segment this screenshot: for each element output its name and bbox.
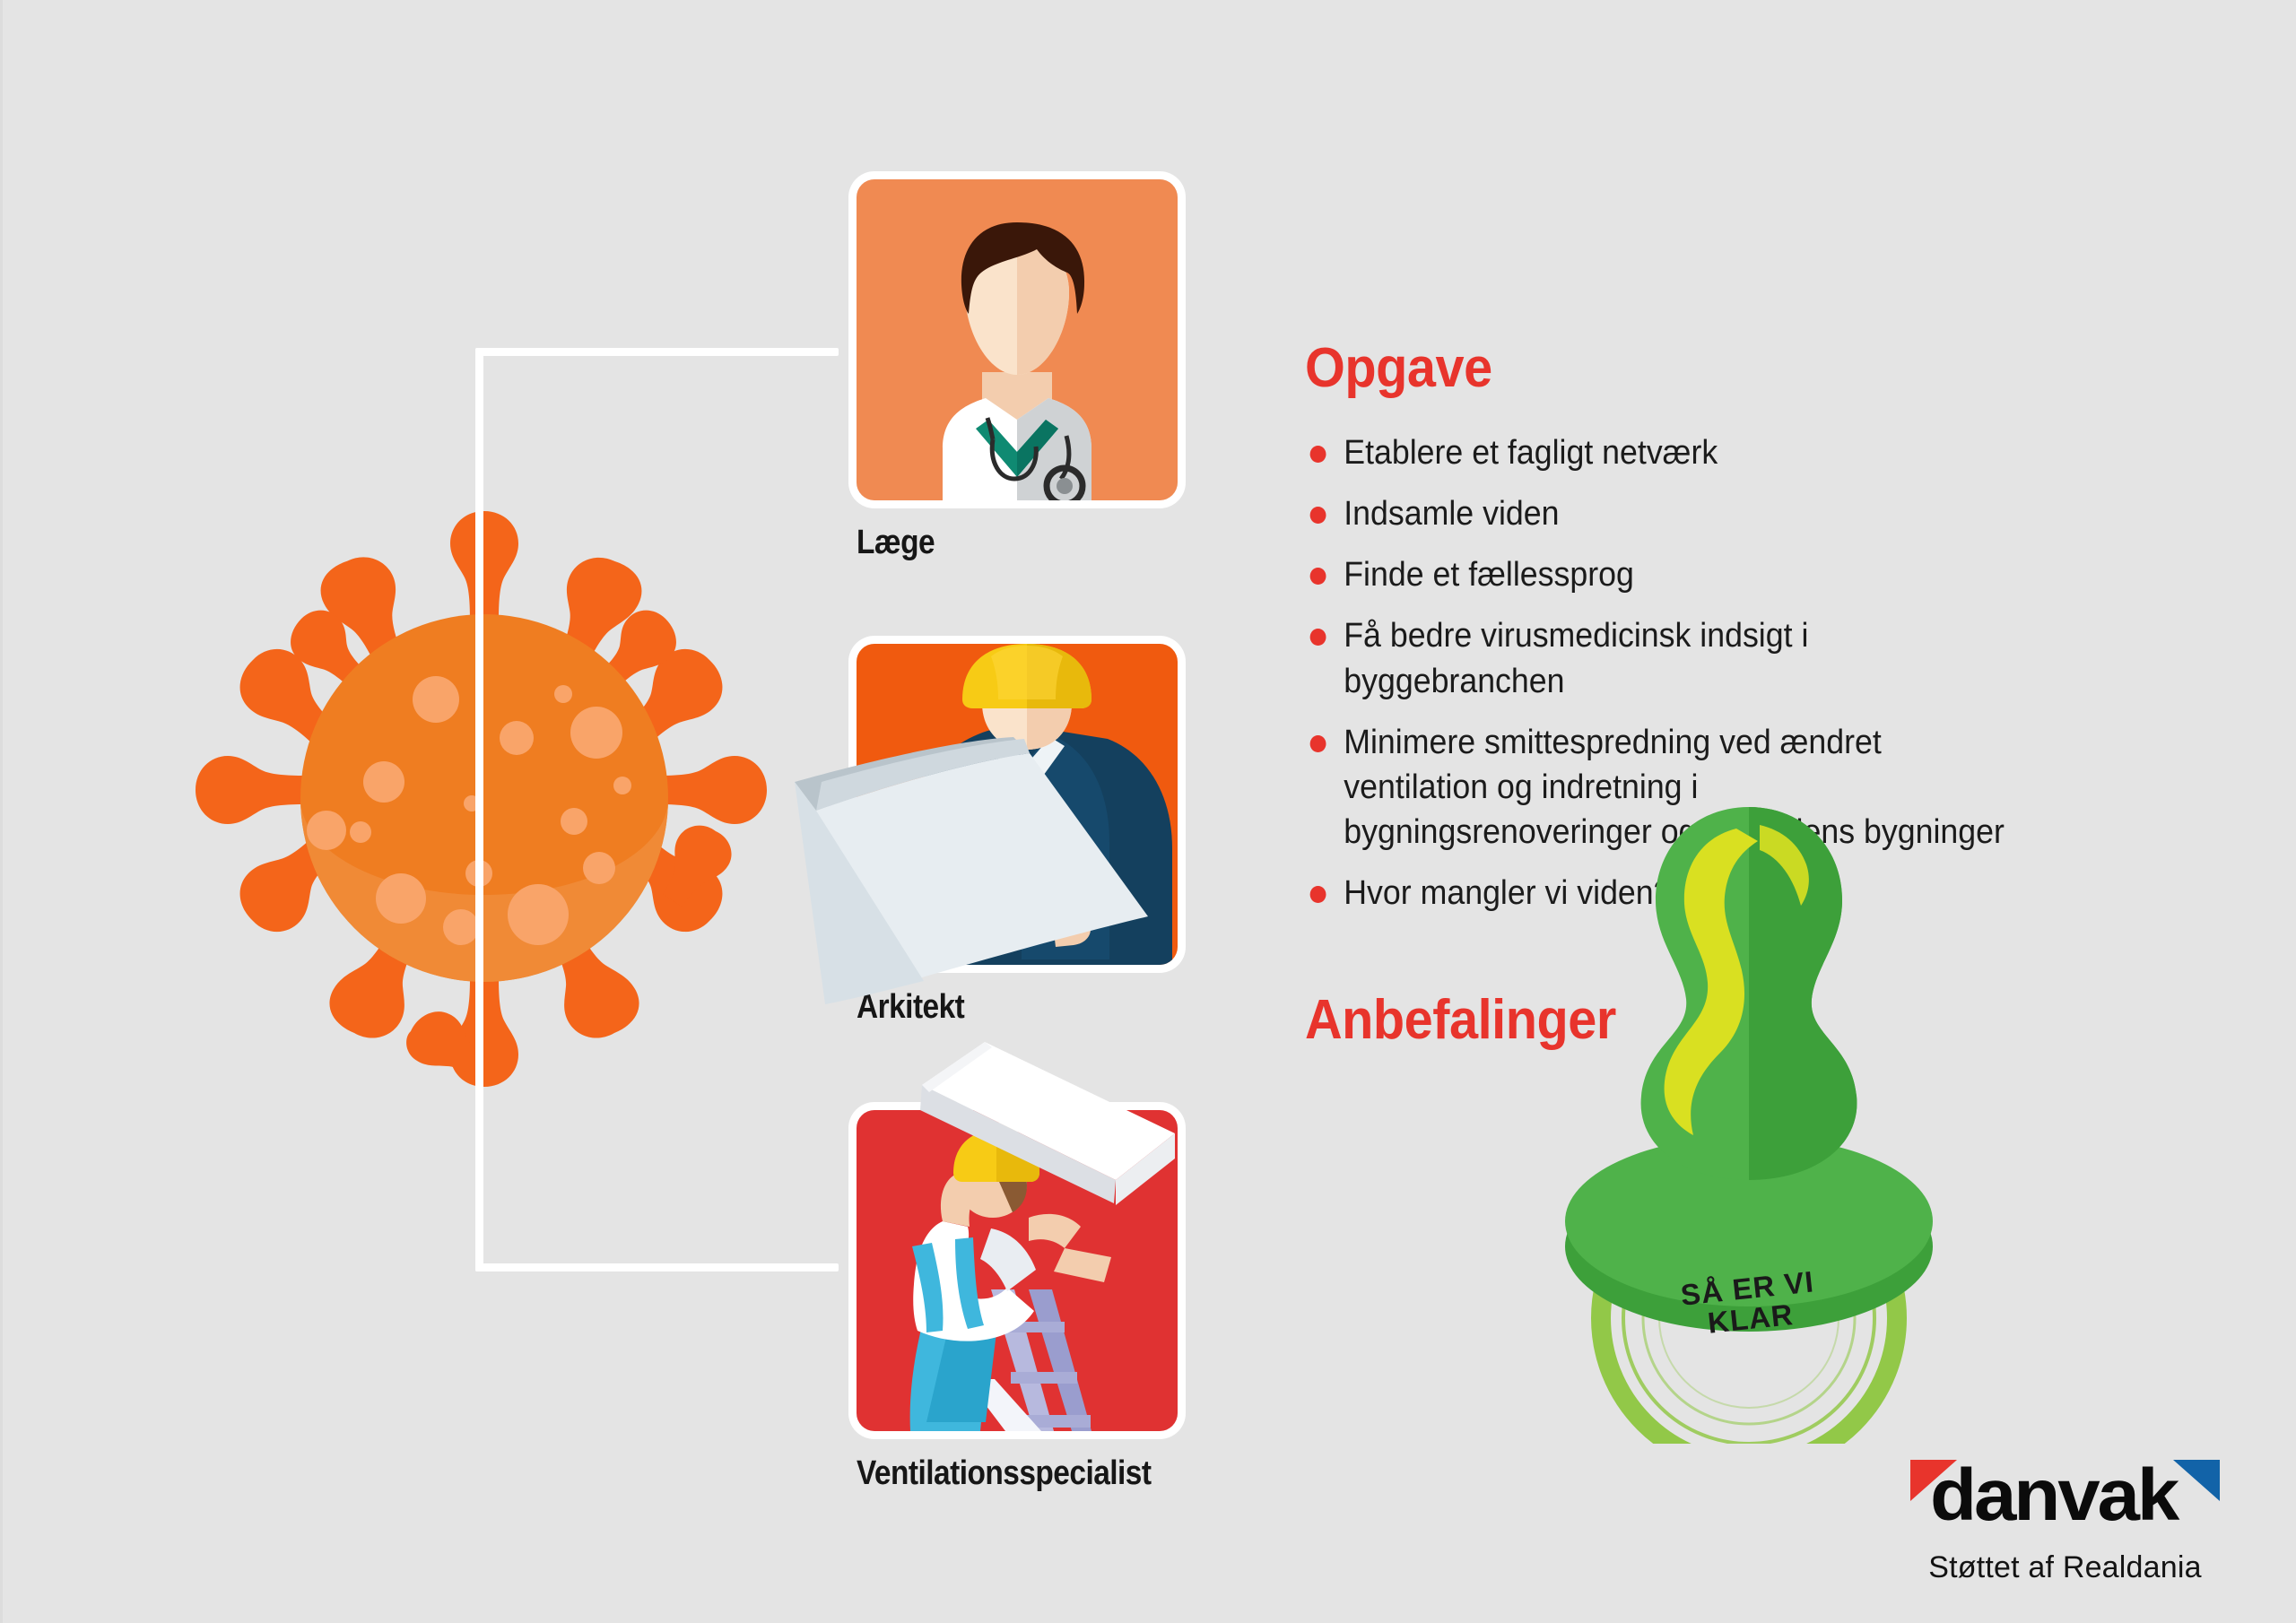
persona-card-architect[interactable]: Arkitekt	[857, 644, 1178, 1027]
infographic-canvas: Læge	[0, 0, 2296, 1623]
danvak-logo: danvak Støttet af Realdania	[1910, 1457, 2220, 1585]
architect-illustration	[857, 644, 1178, 965]
section-heading-tasks: Opgave	[1305, 341, 2005, 396]
persona-card-label: Ventilationsspecialist	[857, 1454, 1139, 1493]
connector-arm-top	[475, 348, 839, 356]
list-item: Etablere et fagligt netværk	[1305, 430, 2013, 475]
rubber-stamp-illustration	[1525, 780, 1973, 1444]
persona-card-label: Læge	[857, 524, 1139, 562]
list-item: Få bedre virusmedicinsk indsigt i byggeb…	[1305, 613, 2013, 703]
connector-bracket	[475, 348, 839, 1271]
logo-triangle-blue-icon	[2173, 1460, 2220, 1501]
canvas-left-edge	[0, 0, 3, 1623]
connector-arm-bottom	[475, 1263, 839, 1271]
connector-vertical-line	[475, 348, 483, 1271]
logo-wordmark: danvak	[1930, 1459, 2177, 1532]
logo-support-text: Støttet af Realdania	[1910, 1550, 2220, 1585]
persona-card-doctor[interactable]: Læge	[857, 179, 1178, 562]
ventilation-technician-illustration	[857, 1110, 1178, 1431]
persona-card-label: Arkitekt	[857, 988, 1139, 1027]
logo-mark: danvak	[1910, 1457, 2220, 1538]
list-item: Finde et fællessprog	[1305, 552, 2013, 597]
doctor-illustration	[857, 179, 1178, 500]
persona-card-ventilation-specialist[interactable]: Ventilationsspecialist	[857, 1110, 1178, 1493]
list-item: Indsamle viden	[1305, 491, 2013, 536]
